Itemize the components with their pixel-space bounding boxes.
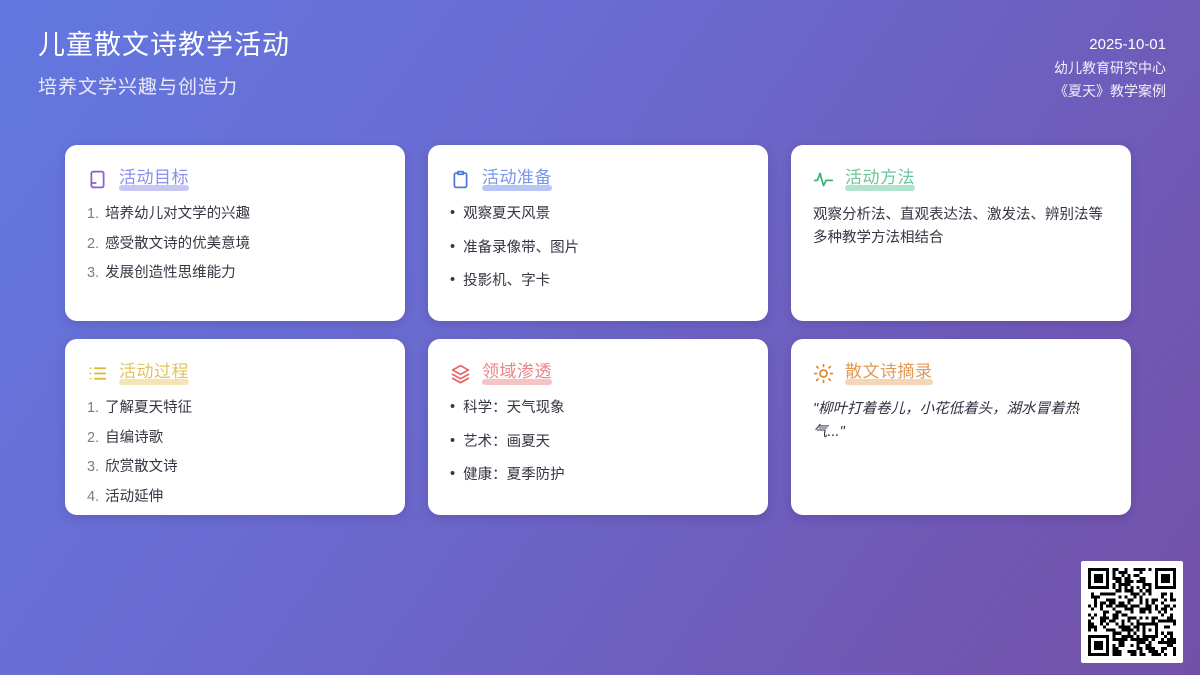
card-prose-poem-excerpt[interactable]: 散文诗摘录 "柳叶打着卷儿，小花低着头，湖水冒着热气...": [791, 339, 1131, 515]
list-item-text: 自编诗歌: [105, 428, 163, 449]
list-item: •健康：夏季防护: [450, 465, 746, 486]
card-title: 活动目标: [119, 168, 189, 187]
list-item: •投影机、字卡: [450, 271, 746, 292]
methods-paragraph: 观察分析法、直观表达法、激发法、辨别法等多种教学方法相结合: [813, 204, 1109, 250]
list-item-text: 了解夏天特征: [105, 398, 192, 419]
list-item-text: 科学：天气现象: [463, 398, 565, 419]
card-title: 活动方法: [845, 168, 915, 187]
card-header: 散文诗摘录: [813, 361, 1109, 384]
card-activity-methods[interactable]: 活动方法 观察分析法、直观表达法、激发法、辨别法等多种教学方法相结合: [791, 145, 1131, 321]
domain-list: •科学：天气现象 •艺术：画夏天 •健康：夏季防护: [450, 398, 746, 486]
list-item: •准备录像带、图片: [450, 238, 746, 259]
qr-code: [1088, 568, 1176, 656]
list-item: 1.培养幼儿对文学的兴趣: [87, 204, 383, 225]
list-item: 4.活动延伸: [87, 487, 383, 508]
card-header: 活动准备: [450, 167, 746, 190]
list-item-text: 投影机、字卡: [463, 271, 550, 292]
list-item-text: 健康：夏季防护: [463, 465, 565, 486]
goals-list: 1.培养幼儿对文学的兴趣 2.感受散文诗的优美意境 3.发展创造性思维能力: [87, 204, 383, 284]
card-header: 活动目标: [87, 167, 383, 190]
list-item: 2.感受散文诗的优美意境: [87, 234, 383, 255]
card-title-wrap: 活动方法: [845, 167, 915, 188]
page-header: 儿童散文诗教学活动 培养文学兴趣与创造力 2025-10-01 幼儿教育研究中心…: [0, 0, 1200, 128]
card-header: 领域渗透: [450, 361, 746, 384]
list-item-text: 准备录像带、图片: [463, 238, 579, 259]
card-title: 活动过程: [119, 362, 189, 381]
list-item: •艺术：画夏天: [450, 432, 746, 453]
list-item-text: 发展创造性思维能力: [105, 263, 236, 284]
list-item: 1.了解夏天特征: [87, 398, 383, 419]
list-item: •科学：天气现象: [450, 398, 746, 419]
card-title: 领域渗透: [482, 362, 552, 381]
clipboard-icon: [450, 169, 471, 190]
card-header: 活动方法: [813, 167, 1109, 190]
card-title-wrap: 领域渗透: [482, 361, 552, 382]
list-item: 3.发展创造性思维能力: [87, 263, 383, 284]
card-title-wrap: 散文诗摘录: [845, 361, 933, 382]
list-item-text: 欣赏散文诗: [105, 457, 178, 478]
card-title-wrap: 活动准备: [482, 167, 552, 188]
card-title-wrap: 活动过程: [119, 361, 189, 382]
list-item-text: 活动延伸: [105, 487, 163, 508]
page-subtitle: 培养文学兴趣与创造力: [38, 72, 290, 99]
book-icon: [87, 169, 108, 190]
card-title: 散文诗摘录: [845, 362, 933, 381]
header-organization: 幼儿教育研究中心: [1054, 57, 1166, 80]
card-title-wrap: 活动目标: [119, 167, 189, 188]
list-item: 3.欣赏散文诗: [87, 457, 383, 478]
list-item-text: 艺术：画夏天: [463, 432, 550, 453]
list-item: •观察夏天风景: [450, 204, 746, 225]
card-activity-process[interactable]: 活动过程 1.了解夏天特征 2.自编诗歌 3.欣赏散文诗 4.活动延伸: [65, 339, 405, 515]
list-item-text: 培养幼儿对文学的兴趣: [105, 204, 250, 225]
sun-icon: [813, 363, 834, 384]
card-activity-goals[interactable]: 活动目标 1.培养幼儿对文学的兴趣 2.感受散文诗的优美意境 3.发展创造性思维…: [65, 145, 405, 321]
header-date: 2025-10-01: [1054, 33, 1166, 57]
header-left: 儿童散文诗教学活动 培养文学兴趣与创造力: [38, 28, 290, 99]
list-item: 2.自编诗歌: [87, 428, 383, 449]
process-list: 1.了解夏天特征 2.自编诗歌 3.欣赏散文诗 4.活动延伸: [87, 398, 383, 507]
header-case: 《夏天》教学案例: [1054, 80, 1166, 103]
card-title: 活动准备: [482, 168, 552, 187]
card-header: 活动过程: [87, 361, 383, 384]
card-activity-preparation[interactable]: 活动准备 •观察夏天风景 •准备录像带、图片 •投影机、字卡: [428, 145, 768, 321]
qr-code-container[interactable]: [1081, 561, 1183, 663]
preparation-list: •观察夏天风景 •准备录像带、图片 •投影机、字卡: [450, 204, 746, 292]
header-meta: 2025-10-01 幼儿教育研究中心 《夏天》教学案例: [1054, 33, 1166, 103]
layers-icon: [450, 363, 471, 384]
card-domain-integration[interactable]: 领域渗透 •科学：天气现象 •艺术：画夏天 •健康：夏季防护: [428, 339, 768, 515]
list-item-text: 观察夏天风景: [463, 204, 550, 225]
poem-quote: "柳叶打着卷儿，小花低着头，湖水冒着热气...": [813, 398, 1109, 444]
list-icon: [87, 363, 108, 384]
list-item-text: 感受散文诗的优美意境: [105, 234, 250, 255]
activity-pulse-icon: [813, 169, 834, 190]
page-title: 儿童散文诗教学活动: [38, 28, 290, 63]
card-grid: 活动目标 1.培养幼儿对文学的兴趣 2.感受散文诗的优美意境 3.发展创造性思维…: [65, 145, 1138, 515]
